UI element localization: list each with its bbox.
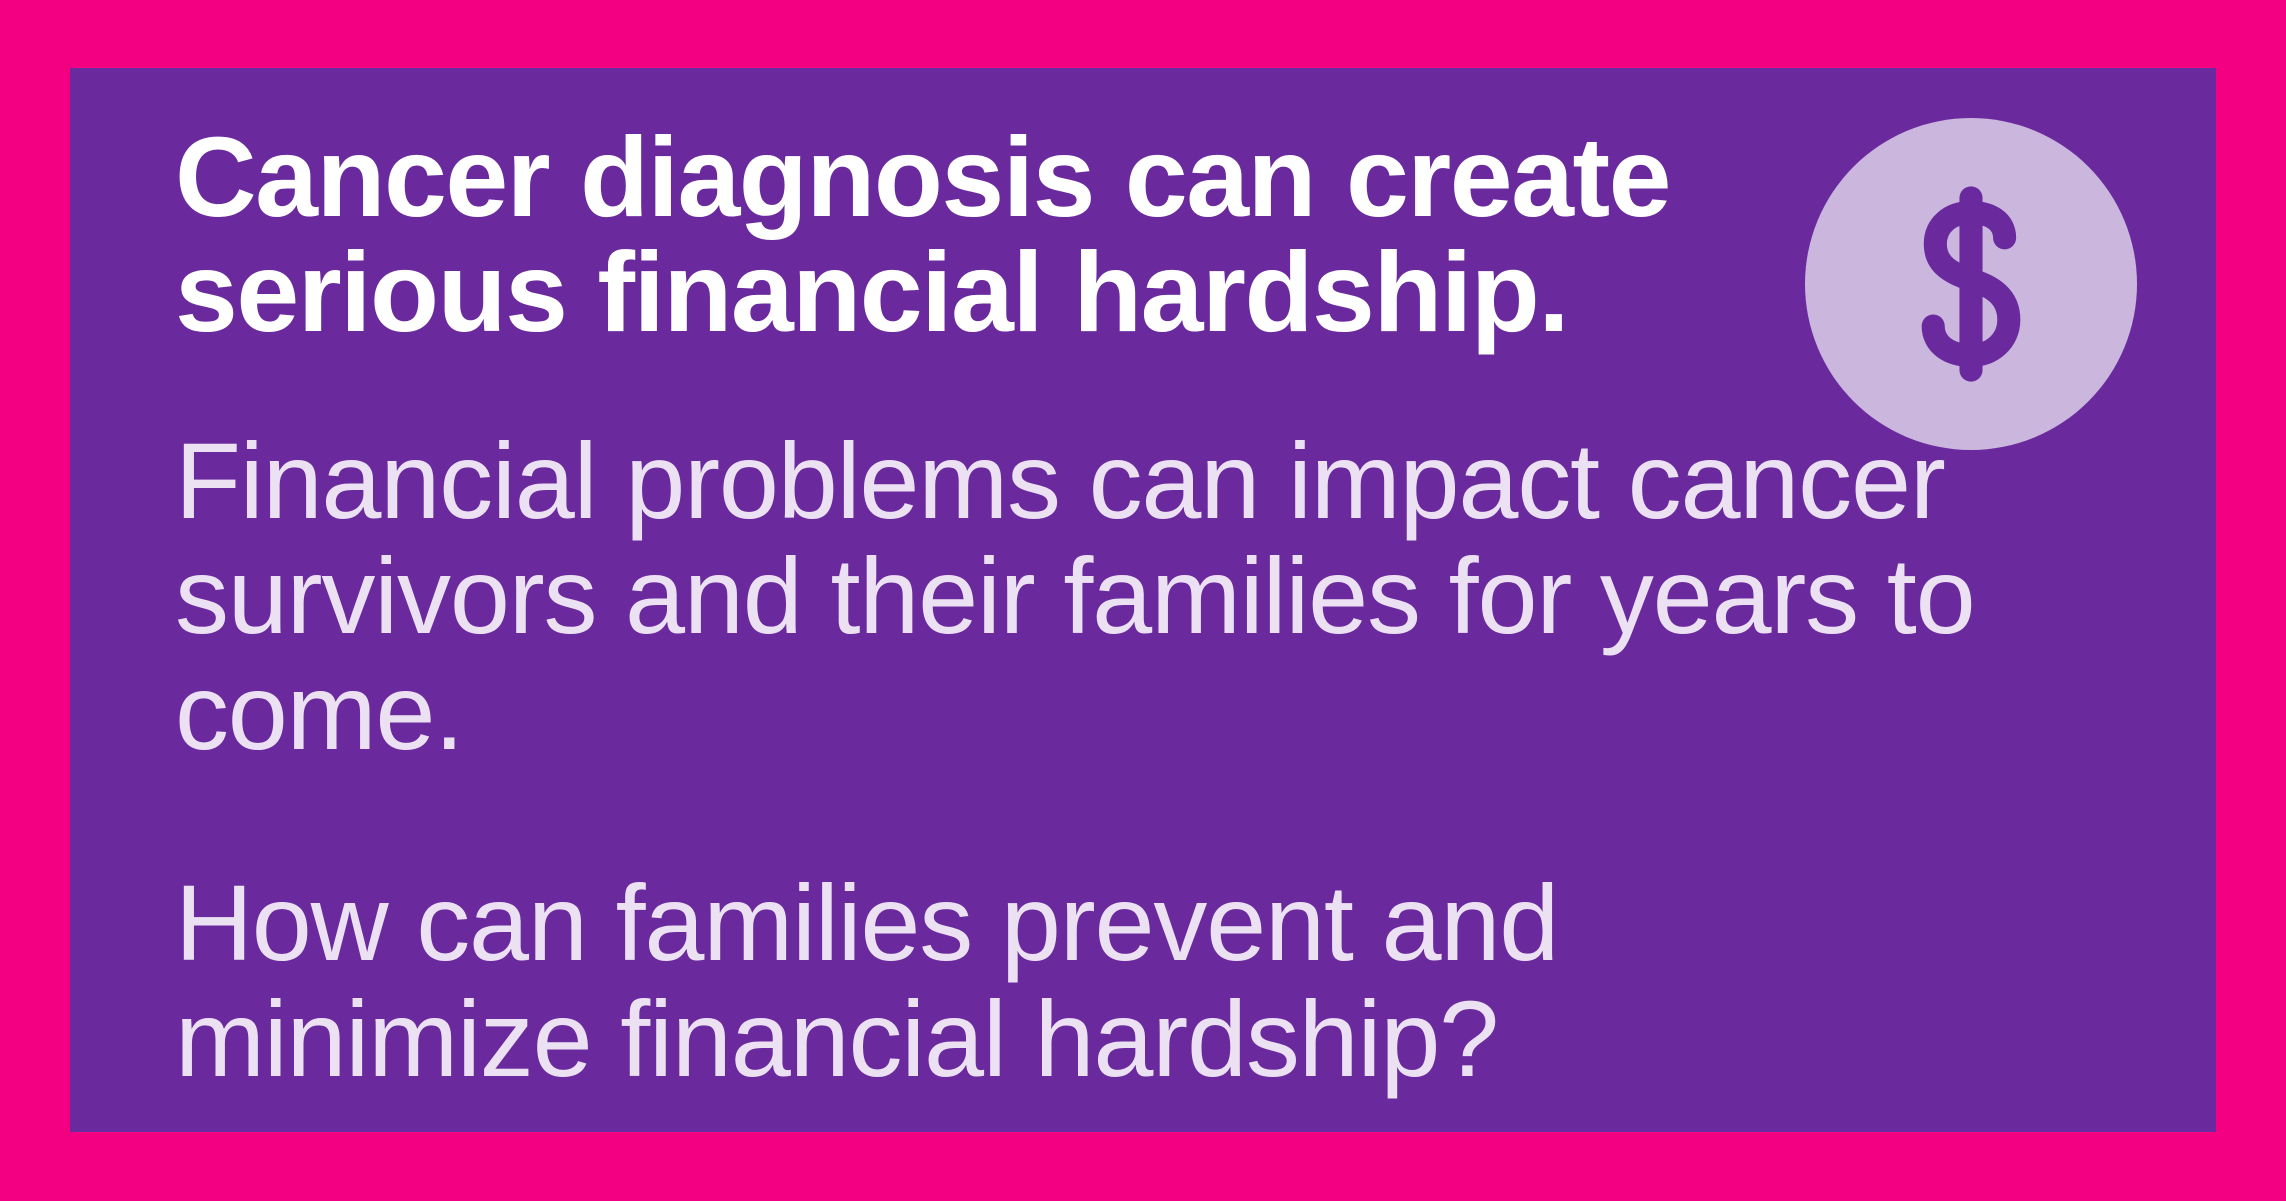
- card-headline: Cancer diagnosis can create serious fina…: [175, 120, 1755, 351]
- card-content: Cancer diagnosis can create serious fina…: [175, 120, 2176, 1132]
- info-card-panel: Cancer diagnosis can create serious fina…: [70, 68, 2216, 1132]
- card-paragraph-2: How can families prevent and minimize fi…: [175, 865, 1735, 1096]
- card-paragraph-1: Financial problems can impact cancer sur…: [175, 423, 2065, 770]
- card-body: Financial problems can impact cancer sur…: [175, 423, 2065, 1097]
- slide-canvas: Cancer diagnosis can create serious fina…: [0, 0, 2286, 1201]
